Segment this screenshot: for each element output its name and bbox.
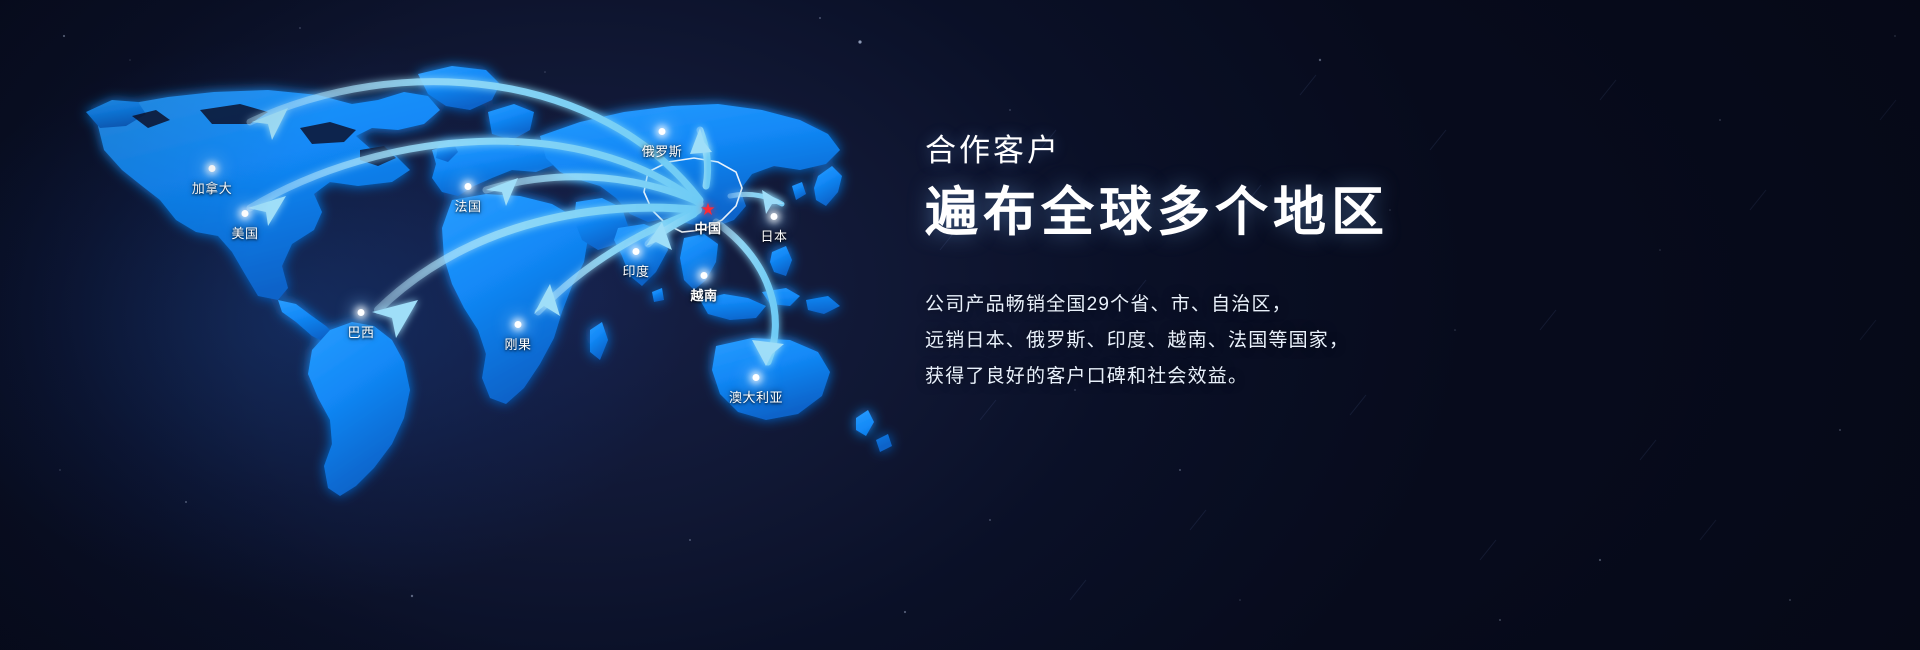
banner-paragraph: 公司产品畅销全国29个省、市、自治区， 远销日本、俄罗斯、印度、越南、法国等国家… [925,287,1785,395]
banner-copy: 合作客户 遍布全球多个地区 公司产品畅销全国29个省、市、自治区， 远销日本、俄… [925,132,1785,395]
southeast-asia [680,234,718,290]
south-america [308,322,410,496]
world-map [0,0,960,650]
banner-headline: 遍布全球多个地区 [925,183,1785,242]
sri-lanka [652,288,664,302]
banner-kicker: 合作客户 [925,132,1785,169]
japan [814,166,842,206]
global-customers-banner: 加拿大 美国 巴西 法国 刚果 俄罗斯 印度 ★ 中国 [0,0,1920,650]
arrowhead-japan [762,190,784,214]
new-zealand [856,410,892,452]
scandinavia [488,104,534,140]
world-map-svg [0,0,960,650]
paragraph-line-2: 远销日本、俄罗斯、印度、越南、法国等国家， [925,323,1785,359]
korea [792,182,806,200]
madagascar [590,322,608,360]
paragraph-line-1: 公司产品畅销全国29个省、市、自治区， [925,287,1785,323]
continents-layer [86,66,892,496]
philippines [770,246,792,276]
paragraph-line-3: 获得了良好的客户口碑和社会效益。 [925,359,1785,395]
